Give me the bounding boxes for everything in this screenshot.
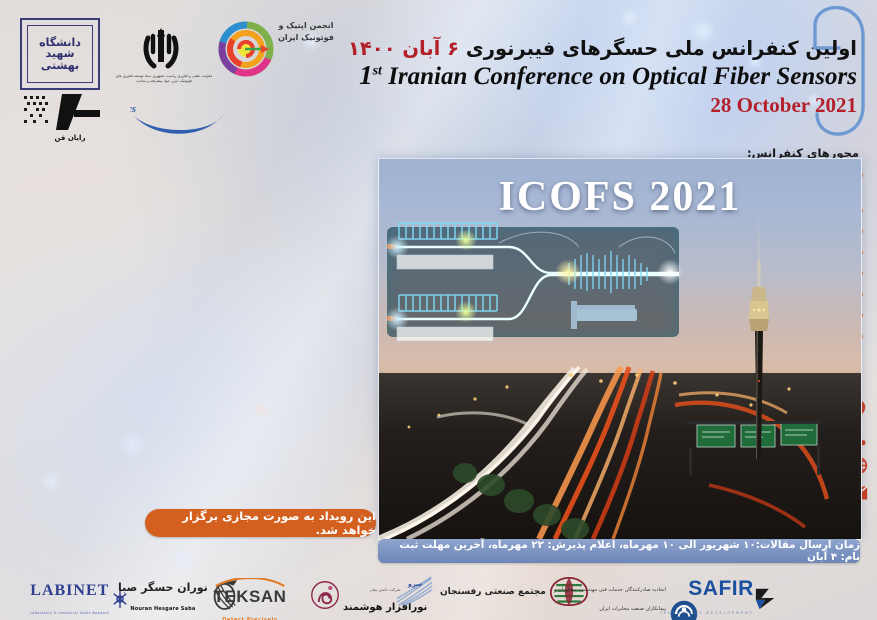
light-glow xyxy=(455,301,477,323)
virtual-event-banner: این رویداد به صورت مجازی برگزار خواهد شد… xyxy=(145,509,376,537)
organizer-logos: دانشگاه شهید بهشتی معاونت علمی و فناوری … xyxy=(10,8,330,143)
sponsor-logos: LABINET Laboratory & Industrial Sales Ne… xyxy=(0,566,877,620)
milad-tower-icon xyxy=(745,209,773,459)
bokeh-dot xyxy=(40,470,62,492)
title-english-rest: Iranian Conference on Optical Fiber Sens… xyxy=(388,63,857,90)
noorafzar-mark-icon xyxy=(310,580,340,610)
sarv-title: سرو xyxy=(407,581,422,588)
light-glow xyxy=(657,259,683,285)
kish-mechatronics-logo: Kish Mechatronics xyxy=(130,96,230,140)
ettehadieh-title-farsi: اتحادیه صادرکنندگان خدمات فنی مهندسی، مش… xyxy=(554,587,666,612)
waveguide-diagram xyxy=(379,217,699,347)
rayan-fan-logo: رایان فن xyxy=(18,90,114,142)
shahid-beheshti-university-logo-text: دانشگاه شهید بهشتی xyxy=(27,25,93,83)
conference-photo: ICOFS 2021 xyxy=(378,158,862,540)
shahid-beheshti-university-logo: دانشگاه شهید بهشتی xyxy=(20,18,100,90)
labinet-logo: LABINET Laboratory & Industrial Sales Ne… xyxy=(30,580,128,618)
svg-text:رایان فن: رایان فن xyxy=(55,134,86,142)
bokeh-dot xyxy=(620,8,640,28)
title-english: 1st Iranian Conference on Optical Fiber … xyxy=(337,61,857,90)
optics-photonics-society-logo xyxy=(215,18,277,80)
conference-poster: اولین کنفرانس ملی حسگرهای فیبرنوری ۶ آبا… xyxy=(0,0,877,620)
teksan-arc-icon xyxy=(212,578,288,587)
sarv-mark-icon: سرو xyxy=(395,575,433,606)
title-english-ordinal-suffix: st xyxy=(373,64,382,79)
kish-mechatronics-label: Kish Mechatronics xyxy=(130,103,136,115)
title-english-ordinal: 1 xyxy=(359,60,373,90)
light-glow xyxy=(455,229,477,251)
nouran-title-farsi: نوران حسگر صبا xyxy=(118,581,208,594)
bokeh-dot xyxy=(252,400,270,418)
title-farsi-main: اولین کنفرانس ملی حسگرهای فیبرنوری xyxy=(466,37,857,60)
light-glow xyxy=(555,259,581,285)
labinet-title: LABINET xyxy=(30,582,109,599)
optics-photonics-society-nastaliq-text: انجمن اپتیک و فوتونیک ایران xyxy=(278,20,334,78)
nouran-title-english: Nouran Hesgare Saba xyxy=(130,606,195,612)
safir-mark-icon xyxy=(754,585,778,611)
safir-logo: SAFIR TECHNOLOGY DEVELOPMENT xyxy=(660,578,778,618)
labinet-subtitle: Laboratory & Industrial Sales Network xyxy=(30,611,109,615)
light-glow xyxy=(385,307,409,331)
safir-title: SAFIR xyxy=(688,577,754,600)
poster-header: اولین کنفرانس ملی حسگرهای فیبرنوری ۶ آبا… xyxy=(337,38,857,118)
title-farsi: اولین کنفرانس ملی حسگرهای فیبرنوری ۶ آبا… xyxy=(337,38,857,60)
light-glow xyxy=(385,235,409,259)
highway-light-trails xyxy=(379,365,861,539)
important-dates-bar: زمان ارسال مقالات:۱۰ شهریور الی ۱۰ مهرما… xyxy=(378,539,860,563)
iran-emblem-icon xyxy=(135,22,187,74)
safir-subtitle: TECHNOLOGY DEVELOPMENT xyxy=(660,611,754,615)
icofs-title-overlay: ICOFS 2021 xyxy=(379,173,861,221)
teksan-title: TEKSAN xyxy=(214,587,287,606)
bokeh-dot xyxy=(118,430,148,460)
mojtame-title: مجتمع صنعتی رفسنجان xyxy=(440,587,546,597)
title-farsi-date: ۶ آبان ۱۴۰۰ xyxy=(348,37,459,60)
sarv-logo: سرو xyxy=(395,575,433,606)
iran-presidency-logo-caption: معاونت علمی و فناوری ریاست جمهوری ستاد ت… xyxy=(110,74,218,84)
teksan-logo: TEKSAN Detect Precisely xyxy=(212,578,288,620)
conference-date-english: 28 October 2021 xyxy=(337,93,857,118)
